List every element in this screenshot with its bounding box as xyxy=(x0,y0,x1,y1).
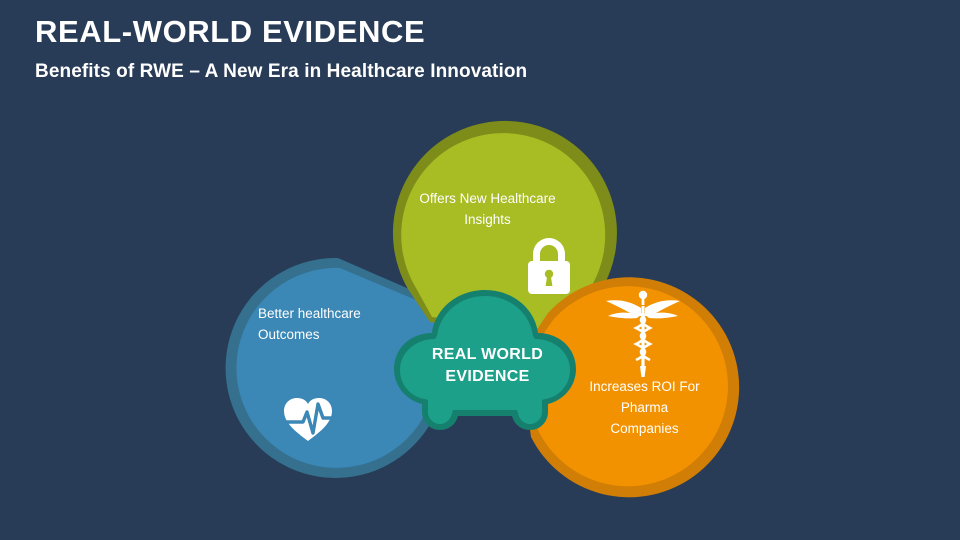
venn-diagram xyxy=(0,0,960,540)
slide-canvas: REAL-WORLD EVIDENCE Benefits of RWE – A … xyxy=(0,0,960,540)
